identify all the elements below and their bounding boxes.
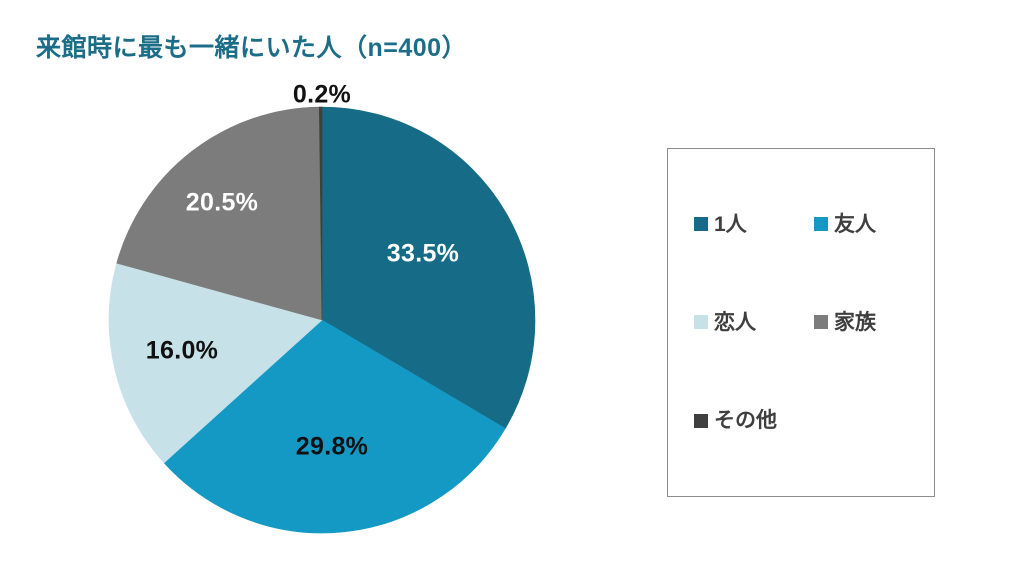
slide-canvas: 来館時に最も一緒にいた人（n=400） 0.2% 33.5% 29.8% 16.… xyxy=(0,0,1024,575)
legend-swatch-icon xyxy=(814,217,828,231)
slice-value-label-sonota: 0.2% xyxy=(293,81,351,110)
pie-chart-svg xyxy=(109,107,535,533)
legend-box: 1人 友人 恋人 家族 その他 xyxy=(667,148,935,497)
legend-swatch-icon xyxy=(814,315,828,329)
legend-item-sonota[interactable]: その他 xyxy=(694,410,777,431)
legend-item-label: 恋人 xyxy=(714,312,756,333)
legend-item-koibito[interactable]: 恋人 xyxy=(694,312,756,333)
legend-item-label: 1人 xyxy=(714,214,747,235)
legend-item-yuujin[interactable]: 友人 xyxy=(814,214,876,235)
legend-item-label: その他 xyxy=(714,410,777,431)
legend-swatch-icon xyxy=(694,414,708,428)
legend-swatch-icon xyxy=(694,217,708,231)
legend-swatch-icon xyxy=(694,315,708,329)
legend-item-kazoku[interactable]: 家族 xyxy=(814,312,876,333)
legend-item-hitori[interactable]: 1人 xyxy=(694,214,747,235)
legend-item-label: 家族 xyxy=(834,312,876,333)
pie-slice-group xyxy=(109,107,535,533)
legend-grid: 1人 友人 恋人 家族 その他 xyxy=(668,149,934,496)
pie-chart xyxy=(109,107,535,533)
legend-item-label: 友人 xyxy=(834,214,876,235)
chart-title: 来館時に最も一緒にいた人（n=400） xyxy=(36,28,467,64)
